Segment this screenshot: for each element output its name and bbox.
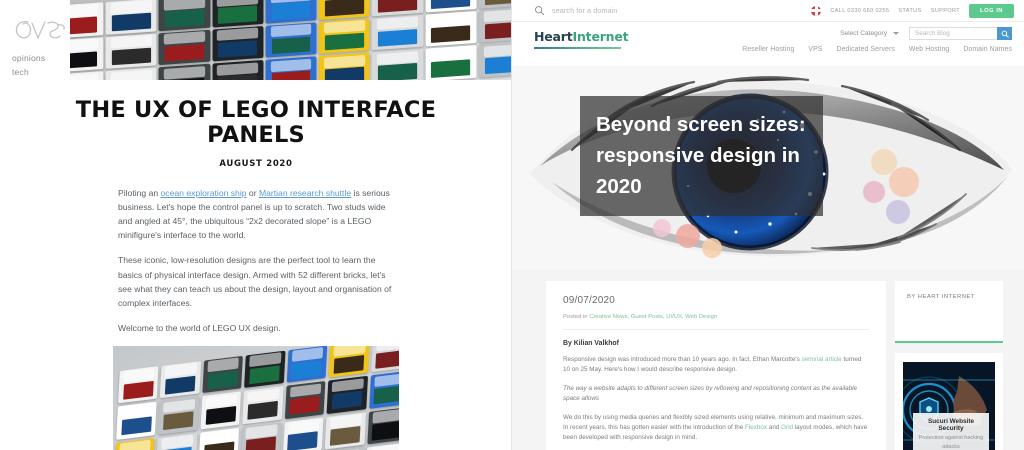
lego-brick (265, 22, 316, 58)
lego-brick-screen (272, 71, 311, 80)
lego-brick-screen (112, 47, 151, 65)
lego-brick-grid (70, 0, 512, 80)
lego-brick (159, 29, 210, 65)
hero-title: Beyond screen sizes: responsive design i… (580, 96, 823, 216)
post-paragraph-2-quote: The way a website adapts to different sc… (563, 384, 869, 405)
link-flexbox[interactable]: Flexbox (745, 424, 767, 431)
lego-brick (212, 60, 263, 80)
search-icon (1001, 30, 1009, 38)
link-grid[interactable]: Grid (781, 424, 793, 431)
lego-brick (106, 33, 157, 69)
lego-brick (212, 26, 263, 62)
lego-brick (369, 371, 399, 409)
category-creative-news[interactable]: Creative News (589, 314, 627, 320)
lego-brick-screen (484, 0, 512, 5)
lego-brick (372, 15, 423, 51)
sidebar-widget-by-heart-internet: BY HEART INTERNET (895, 281, 1003, 343)
lego-brick-screen (245, 437, 276, 450)
post-paragraph-3: We do this by using media queries and fl… (563, 413, 869, 444)
lego-brick-screen (272, 1, 311, 19)
lego-brick (327, 376, 368, 414)
lego-brick (158, 397, 199, 435)
lego-brick (367, 407, 399, 445)
lego-brick (425, 45, 476, 80)
main-nav: Reseller Hosting VPS Dedicated Servers W… (742, 46, 1012, 53)
lego-brick (159, 0, 210, 31)
lego-brick-screen (121, 417, 152, 436)
lego-brick (70, 37, 104, 73)
sidebar-ad-title: Sucuri Website Security (917, 418, 985, 432)
lego-brick (478, 42, 512, 78)
lego-brick (244, 351, 285, 389)
post-categories: Posted in Creative News, Guest Posts, UI… (563, 314, 869, 320)
phone-link[interactable]: CALL 0330 660 0255 (830, 8, 889, 14)
lego-brick (319, 0, 370, 20)
nav-item-vps[interactable]: VPS (808, 46, 822, 53)
lego-brick-screen (431, 0, 470, 9)
posted-in-label: Posted in (563, 314, 589, 320)
lego-figure-grid (113, 346, 399, 450)
article-date: AUGUST 2020 (40, 159, 472, 169)
logo-underline (534, 47, 621, 49)
lego-brick-screen (325, 0, 364, 16)
blog-search-row: Select Category Search Blog (840, 27, 1012, 40)
lego-brick (372, 49, 423, 80)
left-site-panel: opinions tech THE UX OF LEGO INTERFACE P… (0, 0, 512, 450)
lego-brick (425, 11, 476, 47)
lego-header-image (70, 0, 512, 80)
lego-brick (371, 346, 399, 373)
article-figure-lego-bricks (113, 346, 399, 450)
lego-brick-screen (123, 381, 154, 400)
post-paragraph-1: Responsive design was introduced more th… (563, 355, 869, 376)
lego-brick (241, 422, 282, 450)
lego-brick-screen (374, 385, 399, 404)
post-date: 09/07/2020 (563, 295, 869, 306)
domain-search[interactable]: search for a domain (534, 5, 811, 16)
link-seminal-article[interactable]: seminal article (802, 356, 842, 363)
lego-brick-screen (333, 355, 364, 374)
paragraph-1: Piloting an ocean exploration ship or Ma… (118, 186, 396, 243)
lego-brick-screen (378, 63, 417, 80)
lego-brick-screen (207, 370, 238, 389)
lego-brick (156, 433, 197, 450)
lego-brick-screen (376, 350, 399, 369)
logo-wordmark: HeartInternet (534, 29, 628, 44)
category-guest-posts[interactable]: Guest Posts (631, 314, 663, 320)
lego-brick-screen (325, 32, 364, 50)
lego-brick-screen (330, 426, 361, 445)
article-body: Piloting an ocean exploration ship or Ma… (40, 186, 472, 336)
site-logo[interactable]: opinions tech (12, 16, 70, 79)
category-select-label: Select Category (840, 30, 887, 37)
nav-item-web-hosting[interactable]: Web Hosting (909, 46, 949, 53)
lego-brick-screen (289, 396, 320, 415)
lego-brick (212, 0, 263, 27)
utility-links: CALL 0330 660 0255 STATUS SUPPORT LOG IN (811, 4, 1014, 18)
paragraph-2: These iconic, low-resolution designs are… (118, 253, 396, 310)
p1-a: Responsive design was introduced more th… (563, 356, 802, 363)
lego-brick (116, 402, 157, 440)
sidebar-ad-sucuri[interactable]: Sucuri Website Security Protection again… (895, 353, 1003, 450)
blog-search: Search Blog (909, 27, 1012, 40)
sidebar-ad-caption: Sucuri Website Security Protection again… (913, 413, 989, 450)
chevron-down-icon (893, 32, 899, 35)
lego-brick (478, 0, 512, 9)
brand-row: HeartInternet Select Category Search Blo… (512, 22, 1024, 66)
page-title: THE UX OF LEGO INTERFACE PANELS (40, 98, 472, 148)
lego-brick-screen (288, 432, 319, 450)
lego-brick (285, 382, 326, 420)
lego-brick (329, 346, 370, 378)
right-site-panel: search for a domain CALL 0330 660 0255 S… (512, 0, 1024, 450)
lego-brick-screen (431, 59, 470, 77)
lego-brick (200, 392, 241, 430)
lego-brick-screen (165, 43, 204, 61)
lego-brick (106, 68, 157, 80)
handwritten-monogram-icon (12, 16, 68, 46)
blog-search-button[interactable] (997, 27, 1012, 40)
nav-item-dedicated-servers[interactable]: Dedicated Servers (837, 46, 895, 53)
lego-brick-screen (165, 376, 196, 395)
nav-item-domain-names[interactable]: Domain Names (963, 46, 1012, 53)
logo-word-internet: Internet (573, 29, 629, 44)
lego-brick (265, 0, 316, 23)
lego-brick-screen (70, 16, 97, 34)
lego-brick (325, 412, 366, 450)
p1-pre: Piloting an (118, 188, 161, 198)
lego-brick-screen (70, 51, 97, 69)
logo-word-heart: Heart (534, 29, 573, 44)
sidebar-ad-image: Sucuri Website Security Protection again… (903, 362, 995, 450)
lego-brick (70, 71, 104, 80)
link-ocean-exploration-ship[interactable]: ocean exploration ship (161, 188, 247, 198)
lego-brick-screen (484, 21, 512, 39)
lego-brick-screen (332, 391, 363, 410)
lego-brick (70, 2, 104, 38)
utility-bar: search for a domain CALL 0330 660 0255 S… (512, 0, 1024, 22)
lego-brick (425, 0, 476, 12)
lego-brick (286, 346, 327, 383)
lego-brick (319, 18, 370, 54)
support-link[interactable]: SUPPORT (931, 8, 960, 14)
lego-brick-screen (325, 67, 364, 80)
lego-brick-screen (378, 0, 417, 12)
lego-brick (478, 7, 512, 43)
lego-brick (365, 443, 399, 450)
lego-brick-screen (203, 442, 234, 450)
sidebar: BY HEART INTERNET (895, 281, 1003, 450)
lego-brick (372, 0, 423, 16)
lego-brick-screen (165, 9, 204, 27)
logo-tagline-tech: tech (12, 66, 70, 79)
lego-brick-screen (247, 401, 278, 420)
uk-flag-icon[interactable] (811, 6, 821, 16)
lego-brick (243, 387, 284, 425)
link-martian-research-shuttle[interactable]: Martian research shuttle (259, 188, 351, 198)
p1-mid: or (247, 188, 259, 198)
lego-brick (199, 428, 240, 450)
header-right-stack: Select Category Search Blog (742, 22, 1012, 53)
lego-brick-screen (249, 365, 280, 384)
lego-brick-screen (431, 25, 470, 43)
search-icon (534, 5, 545, 16)
left-article: THE UX OF LEGO INTERFACE PANELS AUGUST 2… (0, 80, 512, 450)
lego-brick (319, 53, 370, 80)
hero-banner: Beyond screen sizes: responsive design i… (512, 66, 1024, 269)
paragraph-3: Welcome to the world of LEGO UX design. (118, 321, 396, 335)
lego-brick (265, 57, 316, 80)
divider (563, 329, 869, 330)
browser-viewport: opinions tech THE UX OF LEGO INTERFACE P… (0, 0, 1024, 450)
category-ui-ux[interactable]: UI/UX (666, 314, 682, 320)
lego-brick-screen (112, 13, 151, 31)
lego-brick-screen (218, 40, 257, 58)
lego-brick-screen (484, 56, 512, 74)
nav-item-reseller-hosting[interactable]: Reseller Hosting (742, 46, 794, 53)
status-link[interactable]: STATUS (898, 8, 921, 14)
domain-search-placeholder: search for a domain (552, 6, 617, 15)
lego-brick-screen (372, 421, 399, 440)
lego-brick-screen (218, 5, 257, 23)
lego-brick (114, 438, 155, 450)
sidebar-widget-title: BY HEART INTERNET (907, 294, 993, 300)
lego-brick (159, 64, 210, 80)
login-button[interactable]: LOG IN (969, 4, 1014, 18)
blog-search-input[interactable]: Search Blog (909, 27, 997, 40)
lego-brick (106, 0, 157, 35)
lego-brick-screen (291, 360, 322, 379)
lego-brick (283, 417, 324, 450)
p3-b: and (767, 424, 781, 431)
content-area: 09/07/2020 Posted in Creative News, Gues… (512, 269, 1024, 450)
lego-brick-screen (378, 29, 417, 47)
post-card: 09/07/2020 Posted in Creative News, Gues… (546, 281, 886, 450)
post-author: By Kilian Valkhof (563, 340, 869, 347)
lego-brick (202, 356, 243, 394)
lego-brick-screen (272, 36, 311, 54)
lego-brick-screen (205, 406, 236, 425)
lego-brick-screen (163, 411, 194, 430)
sidebar-ad-subtitle: Protection against hacking attacks (917, 434, 985, 450)
heart-internet-logo[interactable]: HeartInternet (534, 29, 628, 49)
lego-brick (160, 361, 201, 399)
category-web-design[interactable]: Web Design (685, 314, 717, 320)
lego-brick (118, 366, 159, 404)
logo-tagline-opinions: opinions (12, 52, 70, 65)
category-select[interactable]: Select Category (840, 30, 899, 37)
